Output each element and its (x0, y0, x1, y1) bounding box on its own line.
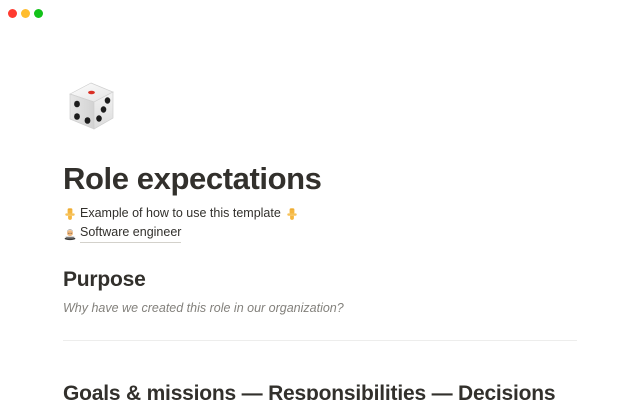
window-controls (8, 9, 43, 18)
window-titlebar (0, 0, 640, 28)
minimize-window-icon[interactable] (21, 9, 30, 18)
game-die-icon[interactable] (64, 80, 118, 134)
backhand-index-pointing-down-icon (63, 207, 77, 221)
document-page: Role expectations Example of how to use … (0, 28, 640, 400)
related-page-line: Software engineer (63, 224, 181, 243)
template-hint-line: Example of how to use this template (63, 205, 299, 222)
page-title[interactable]: Role expectations (63, 160, 322, 198)
section-heading-next[interactable]: Goals & missions — Responsibilities — De… (63, 381, 555, 400)
backhand-index-pointing-down-icon-2 (285, 207, 299, 221)
app-window: Role expectations Example of how to use … (0, 0, 640, 400)
maximize-window-icon[interactable] (34, 9, 43, 18)
software-engineer-link[interactable]: Software engineer (80, 224, 181, 243)
template-hint-text: Example of how to use this template (80, 205, 281, 222)
section-prompt-purpose[interactable]: Why have we created this role in our org… (63, 300, 344, 317)
next-section-clip: Goals & missions — Responsibilities — De… (0, 381, 640, 400)
section-heading-purpose[interactable]: Purpose (63, 267, 146, 293)
section-divider (63, 340, 577, 341)
technologist-icon (63, 227, 77, 241)
close-window-icon[interactable] (8, 9, 17, 18)
